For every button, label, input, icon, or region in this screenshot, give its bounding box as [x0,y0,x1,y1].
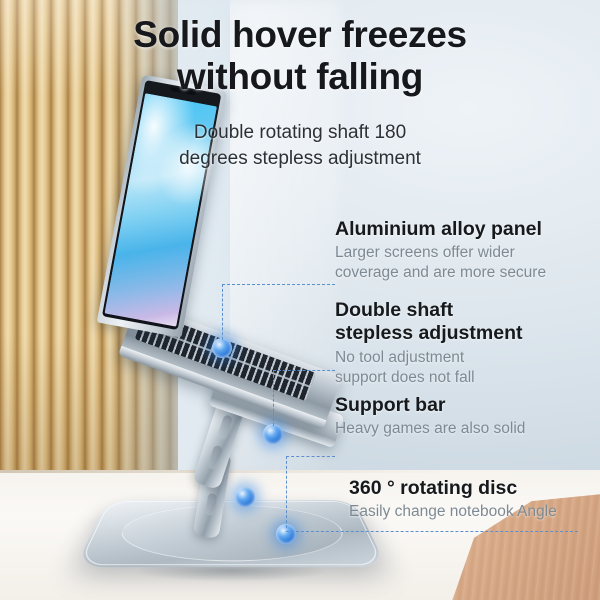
callout-subtext: Larger screens offer wider coverage and … [335,243,587,283]
joint-marker-arm-hinge [235,487,255,507]
arm-slot [207,444,223,470]
leader-line-panel-horizontal [222,284,335,285]
callout-sub-line-1: No tool adjustment [335,348,587,368]
callout-subtext: Easily change notebook Angle [349,502,597,522]
callout-title: Double shaft stepless adjustment [335,299,587,346]
leader-line-shaft-horizontal [273,370,335,371]
callout-double-shaft-stepless-adjustment: Double shaft stepless adjustment No tool… [335,299,587,387]
subhead-line-2: degrees stepless adjustment [0,146,600,172]
callout-title-line-1: Support bar [335,394,587,417]
callout-sub-line-1: Heavy games are also solid [335,419,587,439]
product-feature-image: Solid hover freezes without falling Doub… [0,0,600,600]
callout-support-bar: Support bar Heavy games are also solid [335,394,587,439]
callout-title-line-1: Aluminium alloy panel [335,218,587,241]
callout-title-line-1: Double shaft [335,299,587,322]
callout-rotating-disc: 360 ° rotating disc Easily change notebo… [349,477,597,522]
joint-marker-shaft-upper [212,338,232,358]
joint-marker-support-bar [263,424,283,444]
callout-sub-line-2: coverage and are more secure [335,263,587,283]
screen-bezel [102,80,221,330]
page-subheadline: Double rotating shaft 180 degrees steple… [0,120,600,172]
laptop-screen-lid [97,74,227,337]
callout-title: 360 ° rotating disc [349,477,597,500]
arm-slot [205,493,217,516]
callout-title: Aluminium alloy panel [335,218,587,241]
callout-title: Support bar [335,394,587,417]
callout-sub-line-2: support does not fall [335,368,587,388]
page-headline: Solid hover freezes without falling [0,14,600,98]
callout-title-line-1: 360 ° rotating disc [349,477,597,500]
arm-slot [217,414,233,440]
leader-line-shaft-vertical [273,370,274,426]
leader-line-panel-vertical [222,284,223,340]
headline-line-2: without falling [0,56,600,98]
headline-line-1: Solid hover freezes [133,14,467,55]
callout-sub-line-1: Larger screens offer wider [335,243,587,263]
rotating-base [75,500,387,567]
leader-line-bar-vertical [286,456,287,528]
leader-line-disc-horizontal [286,531,578,532]
subhead-line-1: Double rotating shaft 180 [194,122,406,143]
callout-title-line-2: stepless adjustment [335,322,587,345]
callout-subtext: Heavy games are also solid [335,419,587,439]
callout-aluminium-alloy-panel: Aluminium alloy panel Larger screens off… [335,218,587,283]
callout-subtext: No tool adjustment support does not fall [335,348,587,388]
leader-line-bar-horizontal [286,456,335,457]
callout-sub-line-1: Easily change notebook Angle [349,502,597,522]
